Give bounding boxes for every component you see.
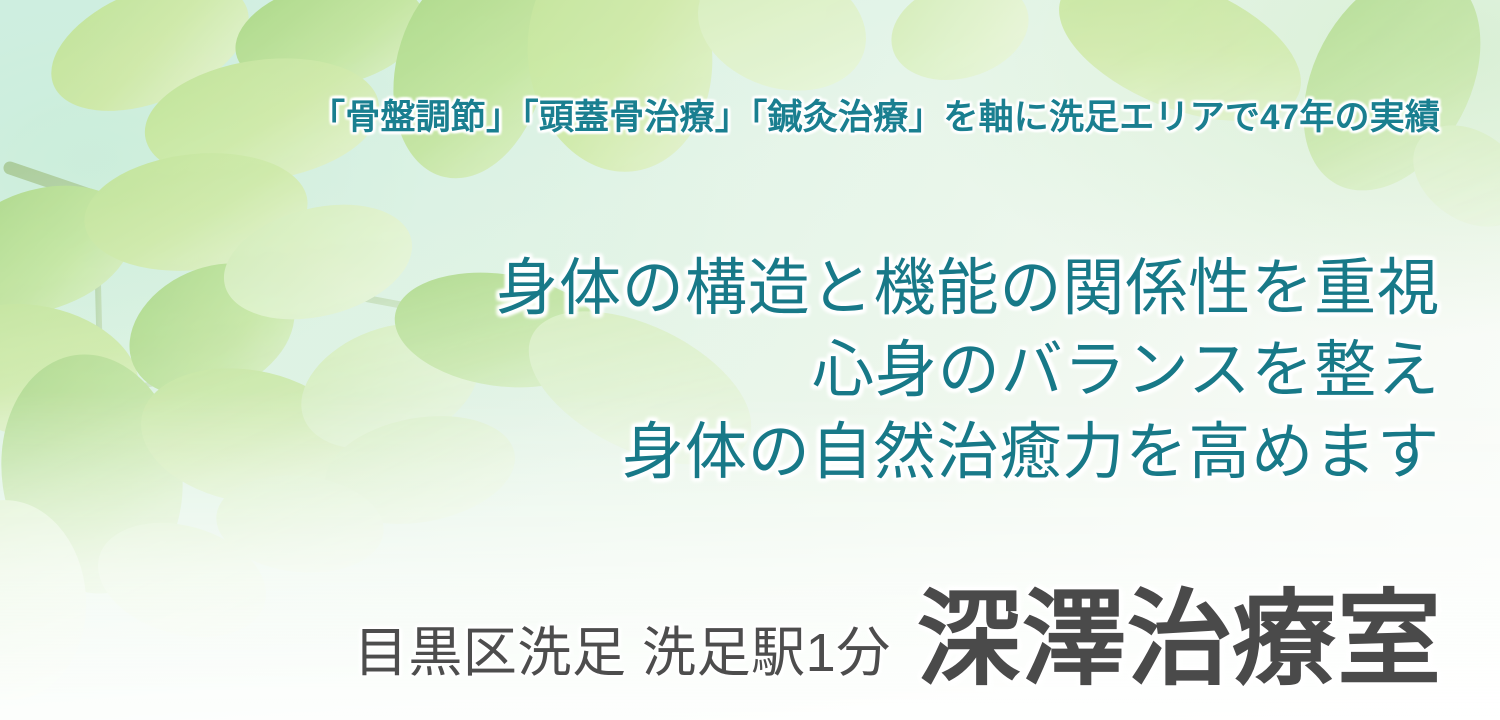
footer-row: 目黒区洗足 洗足駅1分 深澤治療室 <box>0 588 1442 692</box>
headline-block: 身体の構造と機能の関係性を重視 心身のバランスを整え 身体の自然治癒力を高めます <box>0 248 1440 493</box>
access-info: 目黒区洗足 洗足駅1分 <box>354 626 891 692</box>
banner-content: 「骨盤調節」「頭蓋骨治療」「鍼灸治療」を軸に洗足エリアで47年の実績 身体の構造… <box>0 0 1500 720</box>
headline-line-3: 身体の自然治癒力を高めます <box>0 412 1440 494</box>
clinic-hero-banner: 「骨盤調節」「頭蓋骨治療」「鍼灸治療」を軸に洗足エリアで47年の実績 身体の構造… <box>0 0 1500 720</box>
tagline: 「骨盤調節」「頭蓋骨治療」「鍼灸治療」を軸に洗足エリアで47年の実績 <box>0 98 1440 138</box>
headline-line-2: 心身のバランスを整え <box>0 330 1440 412</box>
headline-line-1: 身体の構造と機能の関係性を重視 <box>0 248 1440 330</box>
clinic-name: 深澤治療室 <box>917 588 1442 692</box>
